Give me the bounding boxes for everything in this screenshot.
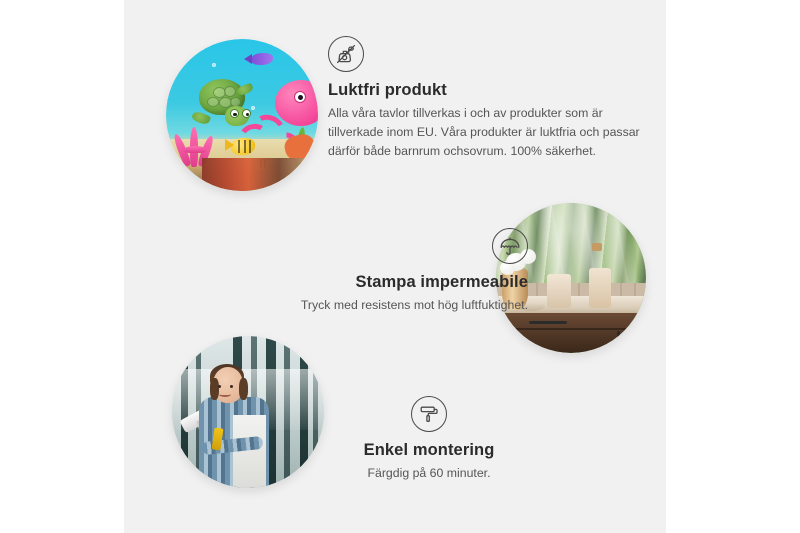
yellow-fish — [231, 138, 255, 155]
person-hair-side — [210, 378, 219, 400]
feature-description: Alla våra tavlor tillverkas i och av pro… — [328, 104, 646, 161]
person-hair-side — [239, 378, 248, 400]
person-inner-shirt — [233, 415, 266, 488]
paint-roller-icon — [411, 396, 447, 432]
feature-description: Färgdig på 60 minuter. — [294, 464, 564, 483]
octopus-head — [275, 80, 318, 126]
dispenser-cap — [592, 243, 602, 251]
person-smile — [219, 392, 231, 397]
turtle-eye — [230, 109, 239, 118]
feature-title: Enkel montering — [294, 441, 564, 460]
octopus-eye — [294, 91, 306, 103]
turtle-eye — [242, 109, 251, 118]
purple-fish-icon — [251, 53, 273, 65]
bubble-icon — [251, 106, 255, 110]
content-panel: Luktfri produkt Alla våra tavlor tillver… — [124, 0, 666, 533]
feature-title: Stampa impermeabile — [180, 273, 528, 292]
soap-bottle — [547, 274, 571, 308]
no-fragrance-icon — [328, 36, 364, 72]
soap-dispenser — [589, 268, 611, 308]
person-eye — [218, 385, 221, 388]
bubble-icon — [212, 63, 216, 67]
feature-waterproof: Stampa impermeabile Tryck med resistens … — [180, 228, 528, 315]
underwater-cartoon-wallpaper-thumbnail — [166, 39, 318, 191]
yellow-fish-tail — [225, 139, 234, 151]
feature-mounting: Enkel montering Färgdig på 60 minuter. — [294, 396, 564, 483]
ocean-foreground-strip — [202, 158, 311, 191]
person-eye — [230, 385, 233, 388]
promo-banner: Luktfri produkt Alla våra tavlor tillver… — [0, 0, 800, 533]
feature-title: Luktfri produkt — [328, 81, 646, 100]
feature-odourless: Luktfri produkt Alla våra tavlor tillver… — [328, 36, 646, 161]
umbrella-icon — [492, 228, 528, 264]
wooden-vanity-cabinet — [505, 313, 646, 354]
feature-description: Tryck med resistens mot hög luftfuktighe… — [180, 296, 528, 315]
